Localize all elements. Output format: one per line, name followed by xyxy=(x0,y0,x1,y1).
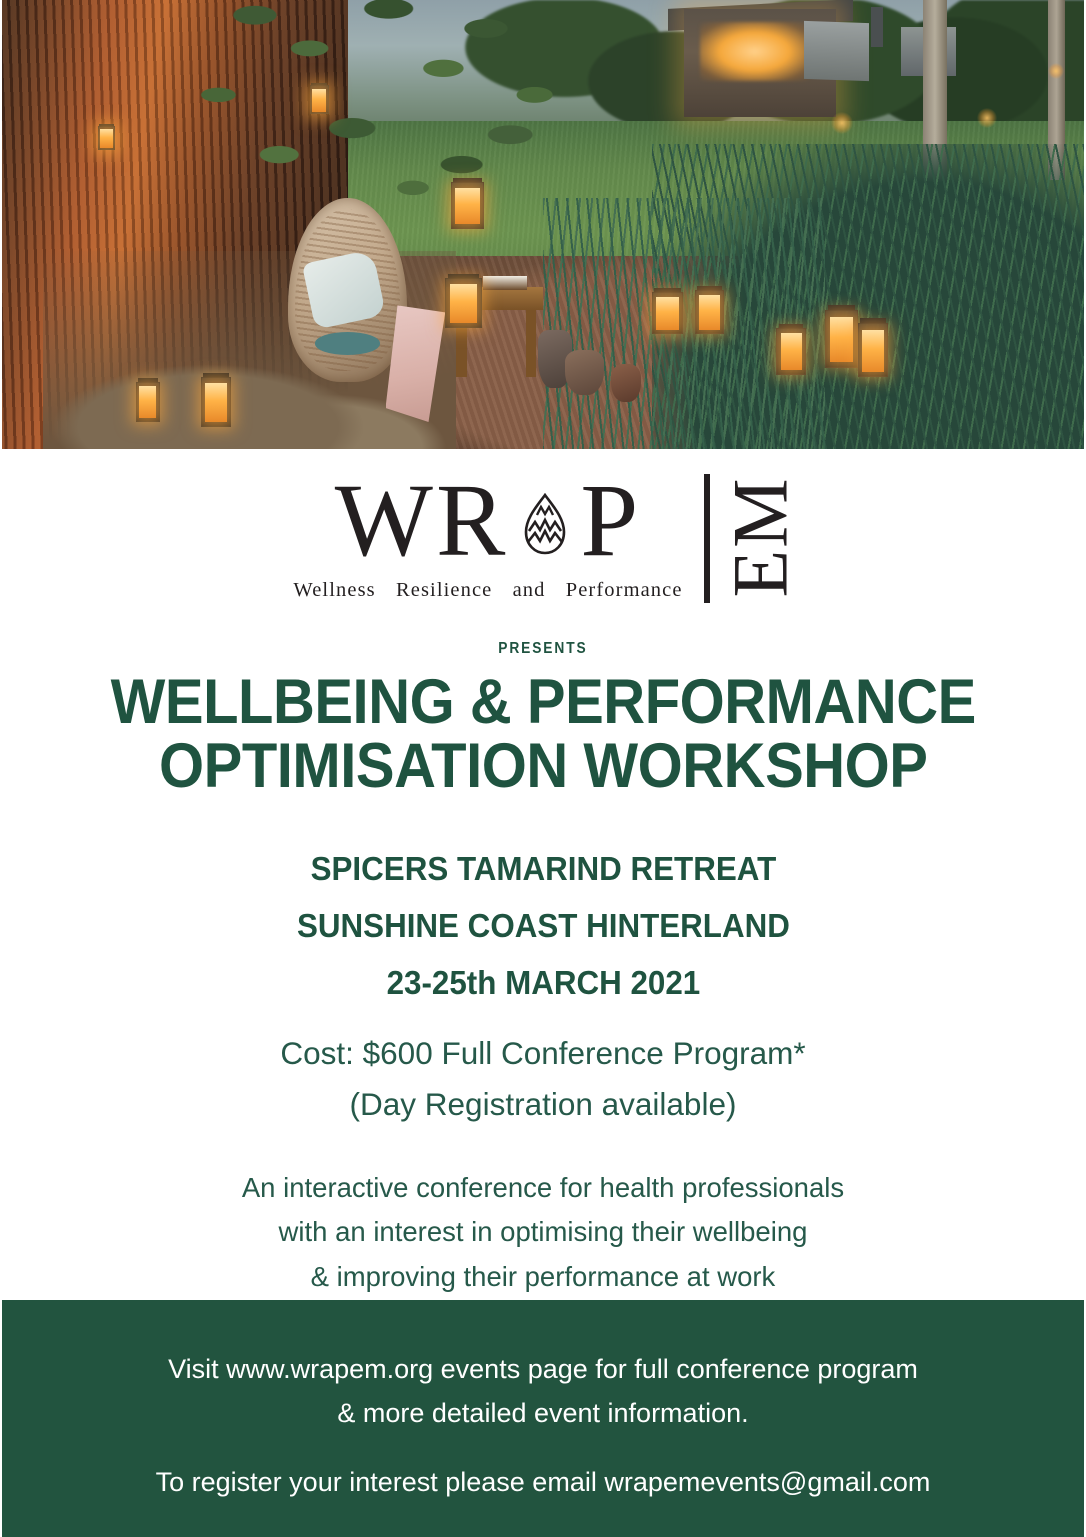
pinecone-icon xyxy=(522,472,568,571)
outbuilding-one xyxy=(804,21,869,82)
lantern-icon xyxy=(695,290,724,335)
lantern-icon xyxy=(451,182,485,229)
cost-note: (Day Registration available) xyxy=(280,1079,805,1130)
path-light-glow xyxy=(831,112,853,134)
cost-line: Cost: $600 Full Conference Program* xyxy=(280,1028,805,1079)
lantern-icon xyxy=(445,278,482,327)
footer-website-line: Visit www.wrapem.org events page for ful… xyxy=(168,1348,918,1392)
logo-tagline-word: Resilience xyxy=(396,579,492,601)
cost-block: Cost: $600 Full Conference Program* (Day… xyxy=(280,1028,805,1130)
logo-wordmark-pre: WR xyxy=(335,472,509,571)
logo-suffix: EM xyxy=(722,470,800,605)
path-light-glow xyxy=(1048,63,1064,79)
page-edge-left xyxy=(0,0,2,1537)
lantern-icon xyxy=(98,126,115,151)
lodge-window-glow xyxy=(700,22,809,80)
chimney xyxy=(871,7,883,47)
lantern-icon xyxy=(776,328,805,375)
logo-suffix-text: EM xyxy=(716,477,806,598)
presents-label: PRESENTS xyxy=(498,640,587,658)
description-line-3: & improving their performance at work xyxy=(242,1255,844,1300)
hero-photo xyxy=(0,0,1086,449)
event-description: An interactive conference for health pro… xyxy=(242,1166,844,1300)
logo-tagline-word: Performance xyxy=(566,579,683,601)
page-title: WELLBEING & PERFORMANCE OPTIMISATION WOR… xyxy=(110,670,975,800)
tree-foliage xyxy=(109,0,717,314)
ceramic-vessel xyxy=(611,364,640,402)
lantern-icon xyxy=(825,310,858,368)
wrapem-logo: WR P Wellness Resilience and xyxy=(286,470,799,605)
logo-tagline-word: and xyxy=(513,579,546,601)
description-line-2: with an interest in optimising their wel… xyxy=(242,1210,844,1255)
side-table-leg xyxy=(526,310,537,377)
lantern-icon xyxy=(652,292,683,335)
logo-primary: WR P Wellness Resilience and xyxy=(286,470,689,605)
ceramic-vessel xyxy=(565,350,604,395)
contact-footer: Visit www.wrapem.org events page for ful… xyxy=(0,1300,1086,1537)
vertical-rule-icon xyxy=(704,474,710,603)
lantern-icon xyxy=(858,323,888,377)
logo-wordmark: WR P xyxy=(286,472,689,571)
lantern-icon xyxy=(310,85,330,114)
chair-seat-pad xyxy=(315,332,380,354)
retreat-garden-photo xyxy=(0,0,1086,449)
event-venue-block: SPICERS TAMARIND RETREAT SUNSHINE COAST … xyxy=(297,841,790,1011)
logo-wordmark-post: P xyxy=(580,472,641,571)
venue-region: SUNSHINE COAST HINTERLAND xyxy=(297,898,790,955)
logo-tagline-word: Wellness xyxy=(293,579,375,601)
book-on-table xyxy=(483,276,526,289)
flyer-body: WR P Wellness Resilience and xyxy=(0,449,1086,1300)
footer-email-line: To register your interest please email w… xyxy=(156,1461,931,1505)
footer-info-line: & more detailed event information. xyxy=(337,1392,748,1436)
lantern-icon xyxy=(201,377,231,426)
venue-name: SPICERS TAMARIND RETREAT xyxy=(297,841,790,898)
logo-tagline: Wellness Resilience and Performance xyxy=(286,579,689,602)
description-line-1: An interactive conference for health pro… xyxy=(242,1166,844,1211)
page-title-line-2: OPTIMISATION WORKSHOP xyxy=(110,734,975,799)
event-dates: 23-25th MARCH 2021 xyxy=(297,955,790,1012)
page-title-line-1: WELLBEING & PERFORMANCE xyxy=(110,670,975,735)
event-flyer: WR P Wellness Resilience and xyxy=(0,0,1086,1537)
lantern-icon xyxy=(136,382,160,422)
